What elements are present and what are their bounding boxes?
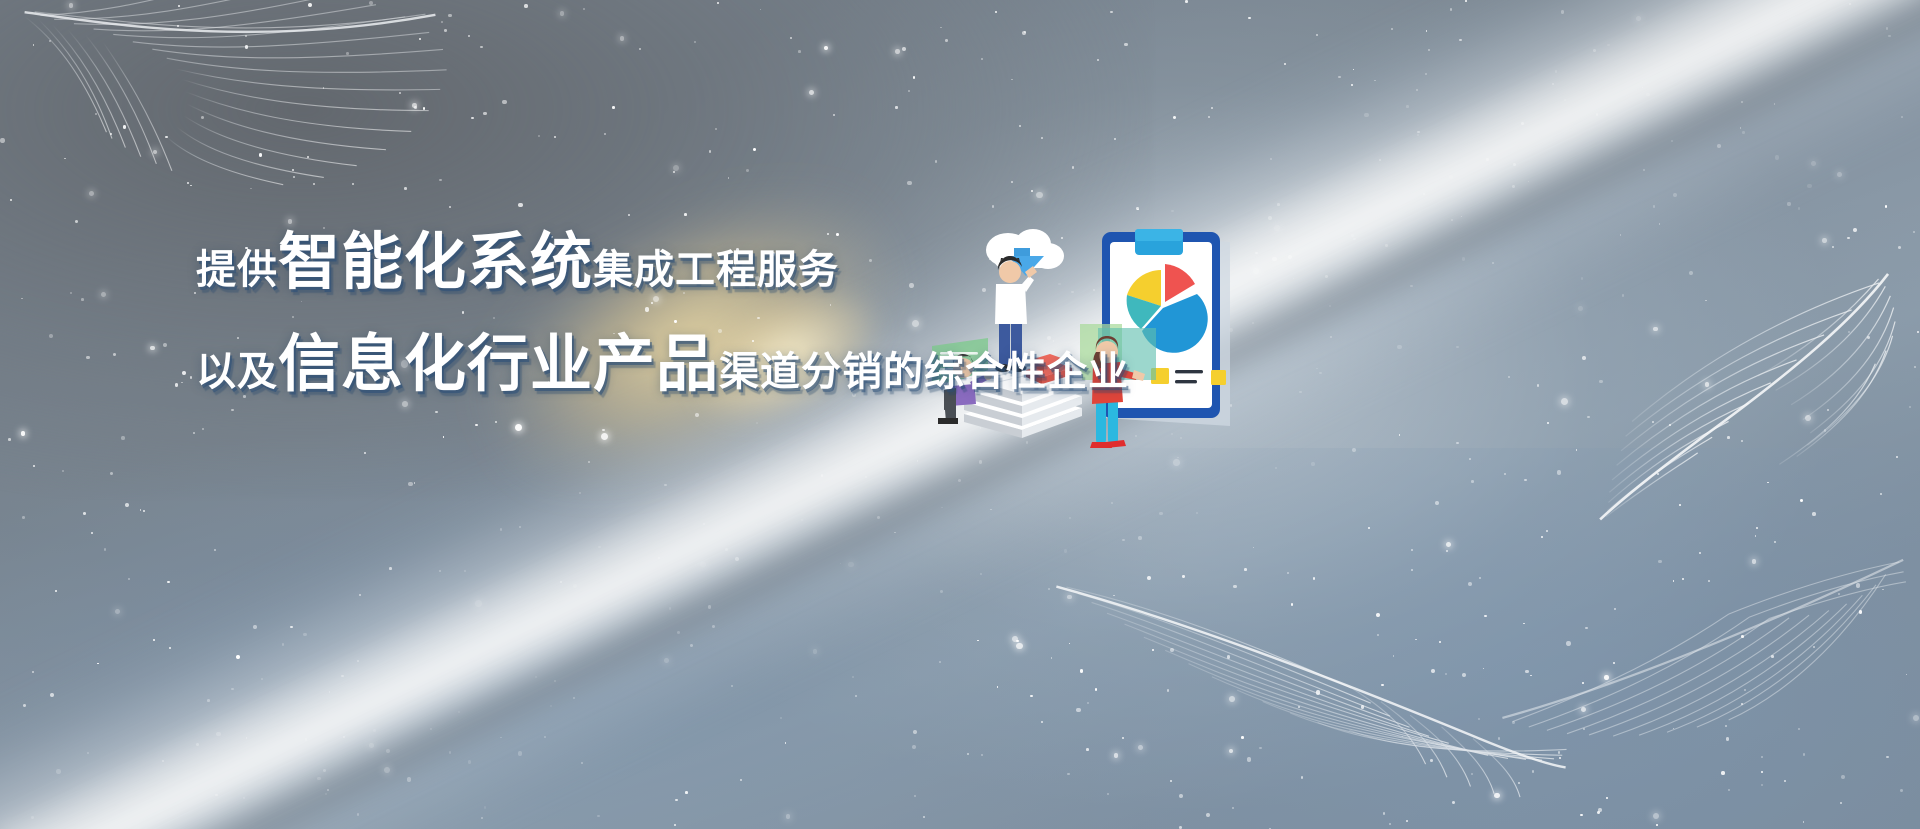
headline-l1-seg-3: 集成工程服务 [593,250,839,290]
headline-l2-seg-1: 以及 [196,352,278,392]
headline-l2-seg-2: 信息化行业产品 [278,334,719,396]
headline-copy: 提供智能化系统集成工程服务 以及信息化行业产品渠道分销的综合性企业 [196,232,1156,396]
feather-right-icon [1549,260,1920,531]
headline-l1-seg-2: 智能化系统 [278,232,593,294]
headline-line-2: 以及信息化行业产品渠道分销的综合性企业 [196,334,1156,396]
hero-banner: 提供智能化系统集成工程服务 以及信息化行业产品渠道分销的综合性企业 [0,0,1920,829]
feather-top-left-icon [0,0,457,216]
feather-bottom-right-icon [1487,538,1914,753]
headline-l2-seg-3: 渠道分销的综合性企业 [719,352,1129,392]
headline-l1-seg-1: 提供 [196,250,278,290]
headline-line-1: 提供智能化系统集成工程服务 [196,232,1156,294]
